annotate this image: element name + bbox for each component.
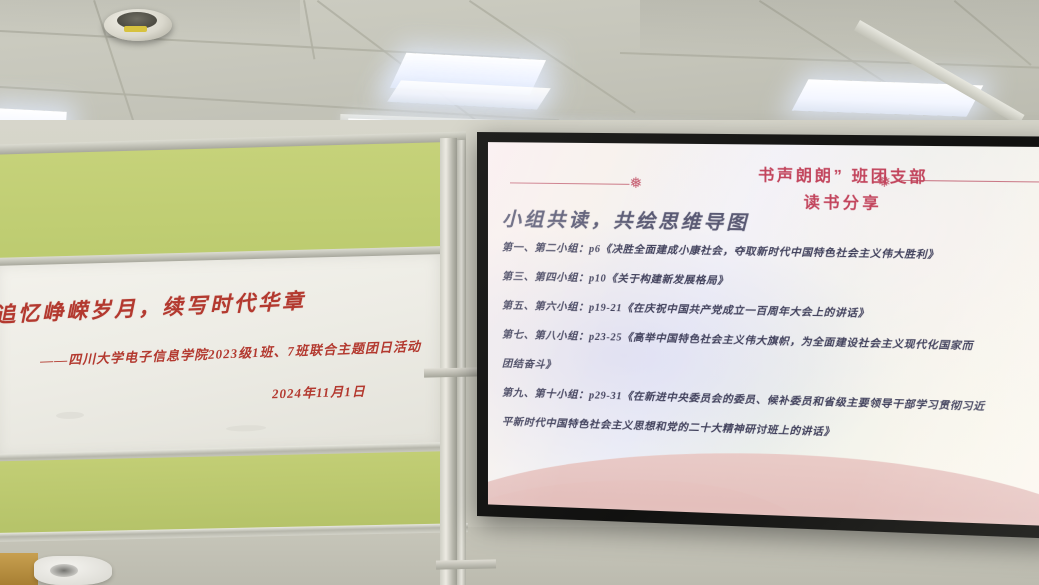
track-bracket-lower bbox=[436, 559, 496, 569]
slide-item-list: 第一、第二小组：p6《决胜全面建成小康社会，夺取新时代中国特色社会主义伟大胜利》… bbox=[502, 240, 1039, 461]
white-bag bbox=[34, 556, 112, 585]
slide-title-line-1: 书声朗朗” 班团支部 bbox=[660, 162, 1030, 189]
slide-list-item: 第五、第六小组：p19-21《在庆祝中国共产党成立一百周年大会上的讲话》 bbox=[502, 299, 1039, 326]
projector-screen[interactable]: ❅ ❅ 书声朗朗” 班团支部 读书分享 小组共读，共绘思维导图 第一、第二小组：… bbox=[477, 132, 1039, 539]
whiteboard-smudge bbox=[226, 425, 266, 432]
slide-subheading: 小组共读，共绘思维导图 bbox=[502, 204, 749, 235]
slide-list-item-continuation: 团结奋斗》 bbox=[502, 357, 1039, 387]
wooden-desk-corner bbox=[0, 553, 38, 585]
track-bracket bbox=[424, 367, 480, 377]
projected-slide: ❅ ❅ 书声朗朗” 班团支部 读书分享 小组共读，共绘思维导图 第一、第二小组：… bbox=[488, 142, 1039, 526]
slide-list-item: 第一、第二小组：p6《决胜全面建成小康社会，夺取新时代中国特色社会主义伟大胜利》 bbox=[502, 240, 1039, 265]
board-track-rail bbox=[457, 140, 466, 585]
ceiling-shadow bbox=[640, 0, 1039, 60]
board-track-mullion bbox=[440, 138, 457, 585]
smoke-detector-icon bbox=[104, 9, 172, 41]
slide-list-item: 第九、第十小组：p29-31《在新进中央委员会的委员、候补委员和省级主要领导干部… bbox=[502, 386, 1039, 417]
classroom-photo: 追忆峥嵘岁月，续写时代华章 ——四川大学电子信息学院2023级1班、7班联合主题… bbox=[0, 0, 1039, 585]
whiteboard-date: 2024年11月1日 bbox=[272, 381, 366, 403]
slide-list-item: 第七、第八小组：p23-25《高举中国特色社会主义伟大旗帜，为全面建设社会主义现… bbox=[502, 328, 1039, 357]
slide-list-item-continuation: 平新时代中国特色社会主义思想和党的二十大精神研讨班上的讲话》 bbox=[502, 415, 1039, 447]
whiteboard-smudge bbox=[56, 412, 84, 420]
slide-content: ❅ ❅ 书声朗朗” 班团支部 读书分享 小组共读，共绘思维导图 第一、第二小组：… bbox=[488, 142, 1039, 526]
slide-list-item: 第三、第四小组：p10《关于构建新发展格局》 bbox=[502, 269, 1039, 295]
cloud-motif-left-icon: ❅ bbox=[629, 176, 642, 191]
title-deco-line-left bbox=[510, 182, 629, 184]
ceiling-grid-line bbox=[303, 0, 315, 59]
